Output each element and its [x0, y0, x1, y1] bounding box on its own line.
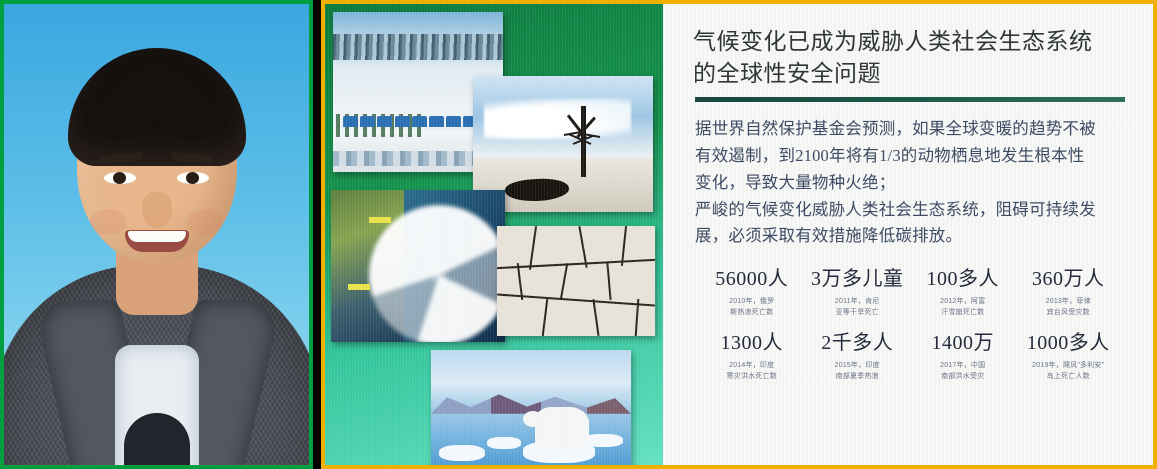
stat-caption: 2010年，俄罗 斯热浪死亡数	[699, 297, 805, 318]
photo-typhoon-satellite	[331, 190, 505, 342]
typhoon-spiral	[369, 205, 505, 342]
polar-bear	[535, 407, 589, 451]
stat-value: 56000人	[699, 268, 805, 290]
statistics-row: 1300人 2014年，印度 寒灾洪水死亡数 2千多人 2015年，印度 南部夏…	[699, 332, 1121, 382]
panel-divider	[313, 0, 321, 469]
stat-item: 360万人 2013年，菲律 宾台风受灾数	[1016, 268, 1122, 318]
speaker-figure	[4, 4, 309, 465]
stat-caption: 2014年，印度 寒灾洪水死亡数	[699, 361, 805, 382]
stat-caption: 2019年，飓风"多利安" 岛上死亡人数	[1016, 361, 1122, 382]
tree-sky-clouds	[484, 98, 632, 139]
slide-title: 气候变化已成为威胁人类社会生态系统 的全球性安全问题	[693, 26, 1127, 89]
stat-caption: 2012年，阿富 汗雪崩死亡数	[910, 297, 1016, 318]
stat-item: 1400万 2017年，中国 南部洪水受灾	[910, 332, 1016, 382]
stat-caption: 2011年，肯尼 亚等干旱死亡	[805, 297, 911, 318]
stat-item: 1000多人 2019年，飓风"多利安" 岛上死亡人数	[1016, 332, 1122, 382]
stat-caption: 2017年，中国 南部洪水受灾	[910, 361, 1016, 382]
statistics-grid: 56000人 2010年，俄罗 斯热浪死亡数 3万多儿童 2011年，肯尼 亚等…	[693, 268, 1127, 382]
mouth-smiling	[125, 230, 189, 252]
stat-value: 360万人	[1016, 268, 1122, 290]
statistics-row: 56000人 2010年，俄罗 斯热浪死亡数 3万多儿童 2011年，肯尼 亚等…	[699, 268, 1121, 318]
photo-collage	[325, 4, 663, 465]
photo-polar-bear-ice	[431, 350, 631, 468]
nose	[142, 192, 172, 228]
stat-item: 56000人 2010年，俄罗 斯热浪死亡数	[699, 268, 805, 318]
stat-item: 3万多儿童 2011年，肯尼 亚等干旱死亡	[805, 268, 911, 318]
photo-cracked-earth	[497, 226, 655, 336]
hair	[68, 48, 246, 166]
projected-slide: 气候变化已成为威胁人类社会生态系统 的全球性安全问题 据世界自然保护基金会预测，…	[321, 0, 1157, 469]
speaker-portrait-panel	[0, 0, 313, 469]
slide-body-text: 据世界自然保护基金会预测，如果全球变暖的趋势不被 有效遏制，到2100年将有1/…	[693, 116, 1127, 250]
stat-caption: 2013年，菲律 宾台风受灾数	[1016, 297, 1122, 318]
stat-value: 1000多人	[1016, 332, 1122, 354]
stat-value: 1300人	[699, 332, 805, 354]
slide-text-column: 气候变化已成为威胁人类社会生态系统 的全球性安全问题 据世界自然保护基金会预测，…	[663, 4, 1153, 465]
stat-item: 100多人 2012年，阿富 汗雪崩死亡数	[910, 268, 1016, 318]
title-underline-rule	[695, 97, 1125, 102]
screenshot-stage: 气候变化已成为威胁人类社会生态系统 的全球性安全问题 据世界自然保护基金会预测，…	[0, 0, 1157, 469]
stat-item: 2千多人 2015年，印度 南部夏季热浪	[805, 332, 911, 382]
stat-value: 3万多儿童	[805, 268, 911, 290]
bear-mountains	[431, 390, 631, 414]
stat-value: 2千多人	[805, 332, 911, 354]
stat-item: 1300人 2014年，印度 寒灾洪水死亡数	[699, 332, 805, 382]
cheek-left	[90, 209, 126, 235]
eye-left	[104, 172, 136, 184]
eye-right	[177, 172, 209, 184]
stat-value: 1400万	[910, 332, 1016, 354]
snow-ridge	[333, 34, 503, 60]
stat-caption: 2015年，印度 南部夏季热浪	[805, 361, 911, 382]
stat-value: 100多人	[910, 268, 1016, 290]
cheek-right	[187, 209, 223, 235]
